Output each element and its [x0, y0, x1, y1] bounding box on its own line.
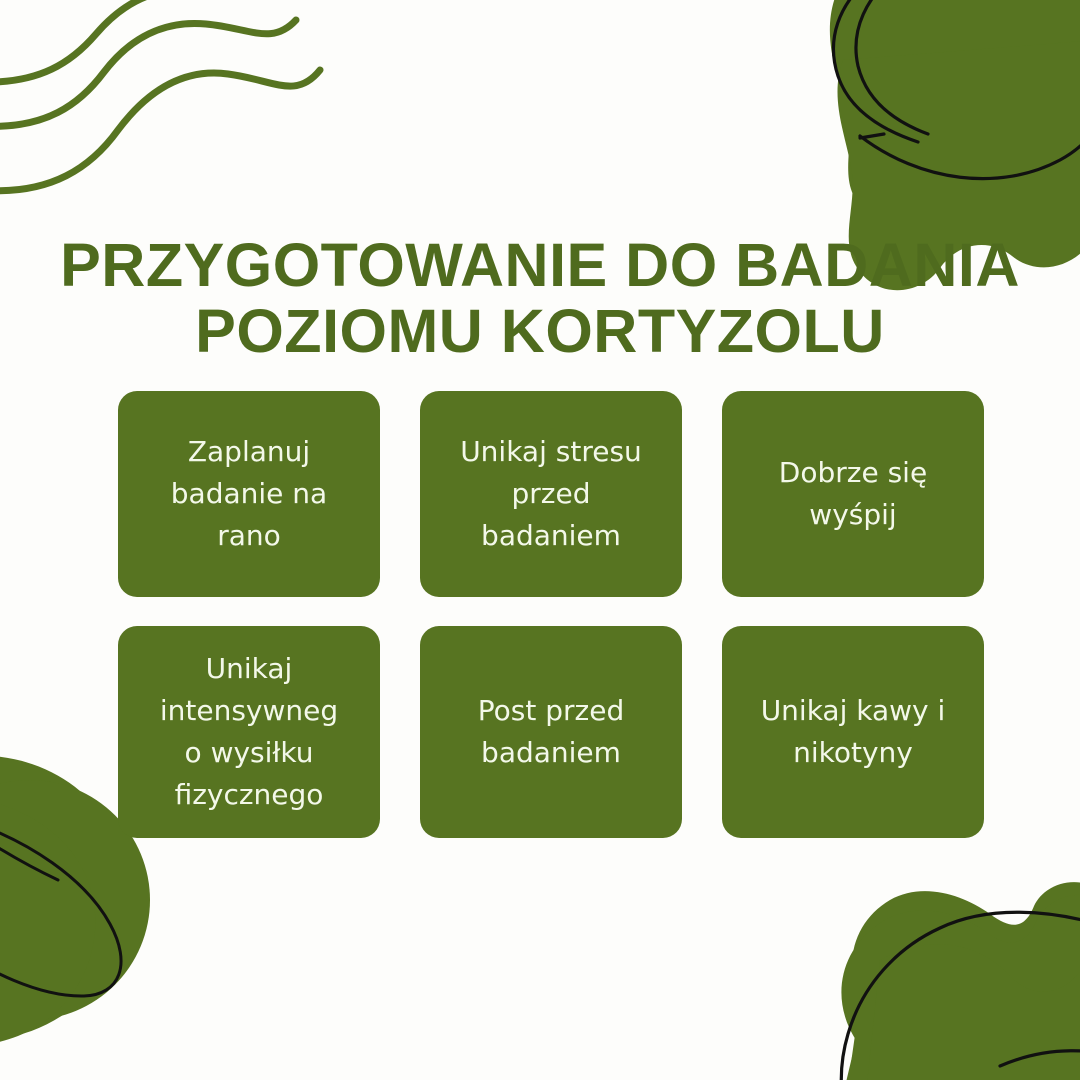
tip-card-label: Dobrze się wyśpij [760, 452, 946, 536]
tip-card-6[interactable]: Unikaj kawy i nikotyny [722, 626, 984, 838]
tip-card-2[interactable]: Unikaj stresu przed badaniem [420, 391, 682, 597]
poster-content: PRZYGOTOWANIE DO BADANIA POZIOMU KORTYZO… [0, 0, 1080, 1080]
poster: PRZYGOTOWANIE DO BADANIA POZIOMU KORTYZO… [0, 0, 1080, 1080]
tip-card-label: Unikaj stresu przed badaniem [453, 431, 649, 557]
tip-card-label: Unikaj kawy i nikotyny [753, 690, 953, 774]
page-title: PRZYGOTOWANIE DO BADANIA POZIOMU KORTYZO… [40, 232, 1040, 364]
tip-card-5[interactable]: Post przed badaniem [420, 626, 682, 838]
tip-card-4[interactable]: Unikaj intensywnego wysiłku fizycznego [118, 626, 380, 838]
tip-card-3[interactable]: Dobrze się wyśpij [722, 391, 984, 597]
tip-card-label: Post przed badaniem [456, 690, 646, 774]
tip-card-1[interactable]: Zaplanuj badanie na rano [118, 391, 380, 597]
tip-card-label: Unikaj intensywnego wysiłku fizycznego [153, 648, 345, 816]
tip-card-label: Zaplanuj badanie na rano [149, 431, 349, 557]
tips-grid: Zaplanuj badanie na rano Unikaj stresu p… [118, 391, 984, 838]
